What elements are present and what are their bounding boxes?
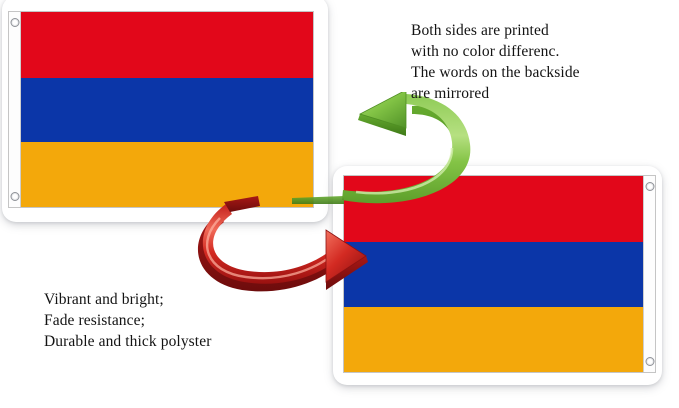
product-image-canvas: Both sides are printed with no color dif… xyxy=(0,0,679,408)
grommet-icon xyxy=(10,18,19,27)
caption-bottom-line-1: Vibrant and bright; xyxy=(44,289,211,310)
caption-both-sides-printed: Both sides are printed with no color dif… xyxy=(411,20,580,104)
caption-top-line-2: with no color differenc. xyxy=(411,41,580,62)
flag-band-gold xyxy=(20,142,313,207)
caption-bottom-line-3: Durable and thick polyster xyxy=(44,331,211,352)
grommet-icon xyxy=(10,192,19,201)
flag-hoist-sleeve-right xyxy=(643,176,655,372)
armenia-flag-backside xyxy=(343,175,656,373)
grommet-icon xyxy=(645,182,654,191)
grommet-icon xyxy=(645,357,654,366)
flag-hoist-sleeve-left xyxy=(9,12,21,207)
flag-band-blue xyxy=(344,242,644,307)
caption-vibrant-durable: Vibrant and bright; Fade resistance; Dur… xyxy=(44,289,211,352)
flag-band-blue xyxy=(20,78,313,142)
flag-band-red xyxy=(344,176,644,242)
flag-band-red xyxy=(20,12,313,78)
caption-top-line-1: Both sides are printed xyxy=(411,20,580,41)
armenia-flag-front xyxy=(8,11,314,208)
flag-band-gold xyxy=(344,307,644,372)
caption-bottom-line-2: Fade resistance; xyxy=(44,310,211,331)
caption-top-line-3: The words on the backside xyxy=(411,62,580,83)
caption-top-line-4: are mirrored xyxy=(411,83,580,104)
